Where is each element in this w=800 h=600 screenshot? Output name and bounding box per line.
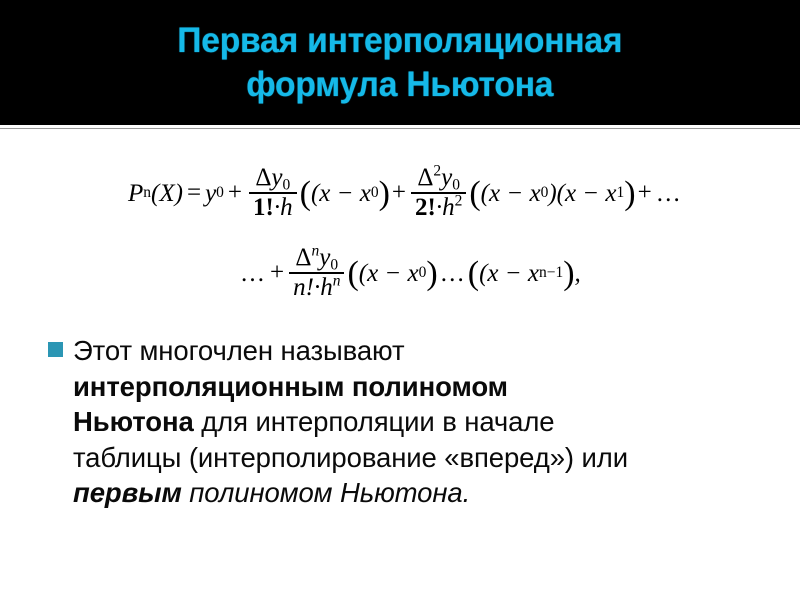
fracn-num-sub: 0 <box>330 256 338 273</box>
formula-line-1: Pn(X) = y0 + Δy0 1!·h ((x − x0) + Δ2y0 2… <box>0 150 800 236</box>
group-1-close-paren: ) <box>379 182 390 206</box>
bullet-part-3: первым <box>73 477 182 508</box>
bullet-part-0: Этот многочлен называют <box>73 335 404 366</box>
formula-plus-2: + <box>390 179 408 207</box>
delta-symbol-n: Δ <box>295 244 311 271</box>
group-a-body: (x − x <box>359 261 419 286</box>
frac1-num-base: y <box>271 164 282 191</box>
formula-fraction-n: Δny0 n!·hn <box>289 245 344 302</box>
formula-fraction-1: Δy0 1!·h <box>249 165 297 222</box>
group-a-open-paren: ( <box>347 262 358 286</box>
group-b-body: (x − x <box>479 261 539 286</box>
frac2-num-base: y <box>441 164 452 191</box>
title-divider-rule <box>0 128 800 129</box>
fracn-den-h-power: n <box>333 272 341 289</box>
delta-symbol-2: Δ <box>417 164 433 191</box>
formula-group-b: ((x − xn−1) <box>468 261 575 286</box>
formula-trailing-comma: , <box>575 261 581 286</box>
fracn-num-base: y <box>319 244 330 271</box>
frac2-den-h-power: 2 <box>455 192 463 209</box>
formula-fraction-n-numerator: Δny0 <box>291 245 342 273</box>
frac1-num-sub: 0 <box>283 176 291 193</box>
formula-line-2-lead-ellipsis: … <box>238 261 268 286</box>
group-2-close-paren: ) <box>624 182 635 206</box>
formula-equals: = <box>183 179 205 207</box>
group-a-close-paren: ) <box>426 262 437 286</box>
formula-lhs: Pn(X) <box>128 181 183 206</box>
formula-fraction-1-numerator: Δy0 <box>251 165 294 193</box>
frac2-delta-power: 2 <box>433 162 441 179</box>
frac1-den-factorial: 1! <box>253 194 274 221</box>
fracn-den-h: h <box>320 274 333 301</box>
group-1-body: (x − x <box>311 181 371 206</box>
title-band: Первая интерполяционная формула Ньютона <box>0 0 800 125</box>
square-bullet-icon <box>48 342 63 357</box>
frac1-den-h: h <box>280 194 293 221</box>
page-title-line-1: Первая интерполяционная <box>177 19 622 63</box>
formula-lhs-arg: (X) <box>151 181 183 206</box>
group-1-open-paren: ( <box>300 182 311 206</box>
formula-y0-base: y <box>205 181 216 206</box>
group-b-open-paren: ( <box>468 262 479 286</box>
formula-line-1-ellipsis: … <box>654 181 684 206</box>
group-b-close-paren: ) <box>563 262 574 286</box>
bullet-paragraph: Этот многочлен называют интерполяционным… <box>73 333 633 511</box>
fracn-den-factorial: n! <box>293 274 314 301</box>
formula-term-y0: y0 <box>205 181 224 206</box>
formula-line-2: … + Δny0 n!·hn ((x − x0) … ((x − xn−1) , <box>0 236 800 310</box>
formula-plus-3: + <box>636 179 654 207</box>
list-item: Этот многочлен называют интерполяционным… <box>48 333 788 511</box>
bullet-part-4: полиномом Ньютона. <box>182 477 470 508</box>
formula-group-a: ((x − x0) <box>347 261 437 286</box>
frac2-den-h: h <box>442 194 455 221</box>
body-block: Этот многочлен называют интерполяционным… <box>48 333 788 511</box>
frac2-den-factorial: 2! <box>415 194 436 221</box>
formula-group-2: ((x − x0)(x − x1) <box>469 181 635 206</box>
group-2-open-paren: ( <box>469 182 480 206</box>
formula-fraction-n-denominator: n!·hn <box>289 274 344 302</box>
formula-block: Pn(X) = y0 + Δy0 1!·h ((x − x0) + Δ2y0 2… <box>0 150 800 310</box>
formula-fraction-1-denominator: 1!·h <box>249 194 297 222</box>
formula-fraction-2: Δ2y0 2!·h2 <box>411 165 466 222</box>
formula-fraction-2-numerator: Δ2y0 <box>413 165 464 193</box>
formula-line-2-mid-ellipsis: … <box>438 261 468 286</box>
formula-line-2-plus: + <box>268 259 286 287</box>
formula-fraction-2-denominator: 2!·h2 <box>411 194 466 222</box>
frac2-num-sub: 0 <box>452 176 460 193</box>
page-title: Первая интерполяционная формула Ньютона <box>139 19 661 107</box>
formula-group-1: ((x − x0) <box>300 181 390 206</box>
delta-symbol: Δ <box>255 164 271 191</box>
group-2b-body: )(x − x <box>548 181 616 206</box>
formula-lhs-base: P <box>128 181 143 206</box>
formula-plus-1: + <box>224 179 246 207</box>
page-title-line-2: формула Ньютона <box>177 63 622 107</box>
group-2a-body: (x − x <box>481 181 541 206</box>
